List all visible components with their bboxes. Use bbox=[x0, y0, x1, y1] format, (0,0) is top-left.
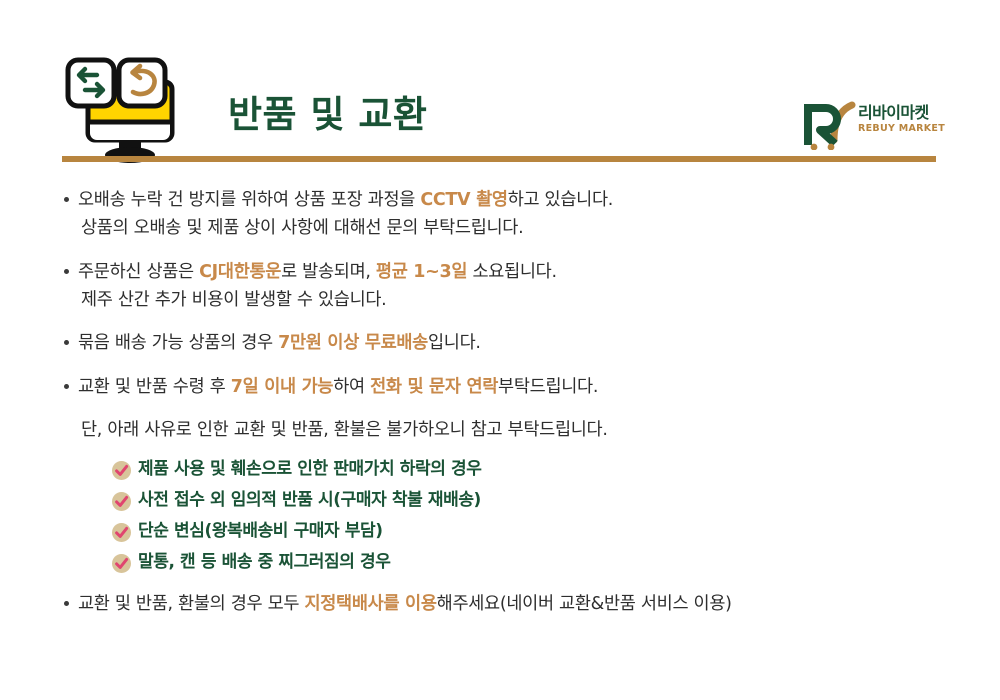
policy-bullet: 교환 및 반품, 환불의 경우 모두 지정택배사를 이용해주세요(네이버 교환&… bbox=[0, 590, 1000, 618]
bullet-dot-icon bbox=[64, 384, 69, 389]
policy-line: 제주 산간 추가 비용이 발생할 수 있습니다. bbox=[78, 286, 1000, 314]
bullet-dot-icon bbox=[64, 601, 69, 606]
policy-bullet: 오배송 누락 건 방지를 위하여 상품 포장 과정을 CCTV 촬영하고 있습니… bbox=[0, 186, 1000, 243]
policy-subnote: 단, 아래 사유로 인한 교환 및 반품, 환불은 불가하오니 참고 부탁드립니… bbox=[0, 416, 1000, 444]
check-circle-icon bbox=[112, 552, 131, 571]
highlighted-text: 전화 및 문자 연락 bbox=[370, 377, 498, 397]
plain-text: 오배송 누락 건 방지를 위하여 상품 포장 과정을 bbox=[78, 190, 420, 210]
brand-logo: 리바이마켓 REBUY MARKET bbox=[800, 96, 950, 154]
policy-line: 교환 및 반품, 환불의 경우 모두 지정택배사를 이용해주세요(네이버 교환&… bbox=[78, 590, 1000, 618]
plain-text: 부탁드립니다. bbox=[498, 377, 598, 397]
plain-text: 제주 산간 추가 비용이 발생할 수 있습니다. bbox=[81, 290, 386, 310]
exclusion-item-label: 말통, 캔 등 배송 중 찌그러짐의 경우 bbox=[138, 552, 391, 572]
check-circle-icon bbox=[112, 490, 131, 509]
plain-text: 소요됩니다. bbox=[467, 262, 557, 282]
policy-line: 교환 및 반품 수령 후 7일 이내 가능하여 전화 및 문자 연락부탁드립니다… bbox=[78, 373, 1000, 401]
policy-line: 묶음 배송 가능 상품의 경우 7만원 이상 무료배송입니다. bbox=[78, 329, 1000, 357]
return-exchange-monitor-icon bbox=[62, 56, 194, 164]
bullet-dot-icon bbox=[64, 269, 69, 274]
plain-text: 로 발송되며, bbox=[281, 262, 376, 282]
rebuy-market-cart-logo bbox=[800, 98, 862, 150]
highlighted-text: CCTV 촬영 bbox=[420, 190, 507, 210]
header-divider bbox=[62, 156, 936, 162]
policy-content: 오배송 누락 건 방지를 위하여 상품 포장 과정을 CCTV 촬영하고 있습니… bbox=[0, 186, 1000, 634]
exclusion-item-label: 제품 사용 및 훼손으로 인한 판매가치 하락의 경우 bbox=[138, 459, 481, 479]
brand-name-ko: 리바이마켓 bbox=[858, 104, 954, 122]
exclusion-item-label: 사전 접수 외 임의적 반품 시(구매자 착불 재배송) bbox=[138, 490, 481, 510]
brand-name-en: REBUY MARKET bbox=[858, 123, 954, 135]
bullet-dot-icon bbox=[64, 197, 69, 202]
highlighted-text: 7일 이내 가능 bbox=[231, 377, 333, 397]
policy-line: 주문하신 상품은 CJ대한통운로 발송되며, 평균 1~3일 소요됩니다. bbox=[78, 258, 1000, 286]
exclusion-list-item: 말통, 캔 등 배송 중 찌그러짐의 경우 bbox=[112, 545, 1000, 576]
highlighted-text: CJ대한통운 bbox=[199, 262, 281, 282]
plain-text: 상품의 오배송 및 제품 상이 사항에 대해선 문의 부탁드립니다. bbox=[81, 218, 523, 238]
plain-text: 해주세요(네이버 교환&반품 서비스 이용) bbox=[437, 594, 732, 614]
page-header: 반품 및 교환 리바이마켓 REBUY MARKET bbox=[0, 0, 1000, 180]
plain-text: 입니다. bbox=[428, 333, 481, 353]
exclusion-list-item: 사전 접수 외 임의적 반품 시(구매자 착불 재배송) bbox=[112, 483, 1000, 514]
page-title: 반품 및 교환 bbox=[228, 92, 427, 138]
exclusion-check-list: 제품 사용 및 훼손으로 인한 판매가치 하락의 경우사전 접수 외 임의적 반… bbox=[0, 452, 1000, 576]
plain-text: 하여 bbox=[333, 377, 370, 397]
exclusion-list-item: 제품 사용 및 훼손으로 인한 판매가치 하락의 경우 bbox=[112, 452, 1000, 483]
highlighted-text: 지정택배사를 이용 bbox=[304, 594, 436, 614]
policy-line: 상품의 오배송 및 제품 상이 사항에 대해선 문의 부탁드립니다. bbox=[78, 214, 1000, 242]
highlighted-text: 평균 1~3일 bbox=[376, 262, 467, 282]
plain-text: 교환 및 반품 수령 후 bbox=[78, 377, 231, 397]
policy-line: 오배송 누락 건 방지를 위하여 상품 포장 과정을 CCTV 촬영하고 있습니… bbox=[78, 186, 1000, 214]
policy-bullet: 교환 및 반품 수령 후 7일 이내 가능하여 전화 및 문자 연락부탁드립니다… bbox=[0, 373, 1000, 401]
check-circle-icon bbox=[112, 521, 131, 540]
plain-text: 묶음 배송 가능 상품의 경우 bbox=[78, 333, 278, 353]
exclusion-item-label: 단순 변심(왕복배송비 구매자 부담) bbox=[138, 521, 383, 541]
last-policy-bullet: 교환 및 반품, 환불의 경우 모두 지정택배사를 이용해주세요(네이버 교환&… bbox=[0, 590, 1000, 618]
policy-bullet: 묶음 배송 가능 상품의 경우 7만원 이상 무료배송입니다. bbox=[0, 329, 1000, 357]
policy-bullet-list: 오배송 누락 건 방지를 위하여 상품 포장 과정을 CCTV 촬영하고 있습니… bbox=[0, 186, 1000, 444]
highlighted-text: 7만원 이상 무료배송 bbox=[278, 333, 428, 353]
plain-text: 하고 있습니다. bbox=[508, 190, 613, 210]
bullet-dot-icon bbox=[64, 340, 69, 345]
exclusion-list-item: 단순 변심(왕복배송비 구매자 부담) bbox=[112, 514, 1000, 545]
policy-bullet: 주문하신 상품은 CJ대한통운로 발송되며, 평균 1~3일 소요됩니다.제주 … bbox=[0, 258, 1000, 315]
plain-text: 주문하신 상품은 bbox=[78, 262, 199, 282]
plain-text: 교환 및 반품, 환불의 경우 모두 bbox=[78, 594, 304, 614]
check-circle-icon bbox=[112, 459, 131, 478]
brand-text: 리바이마켓 REBUY MARKET bbox=[858, 104, 954, 136]
